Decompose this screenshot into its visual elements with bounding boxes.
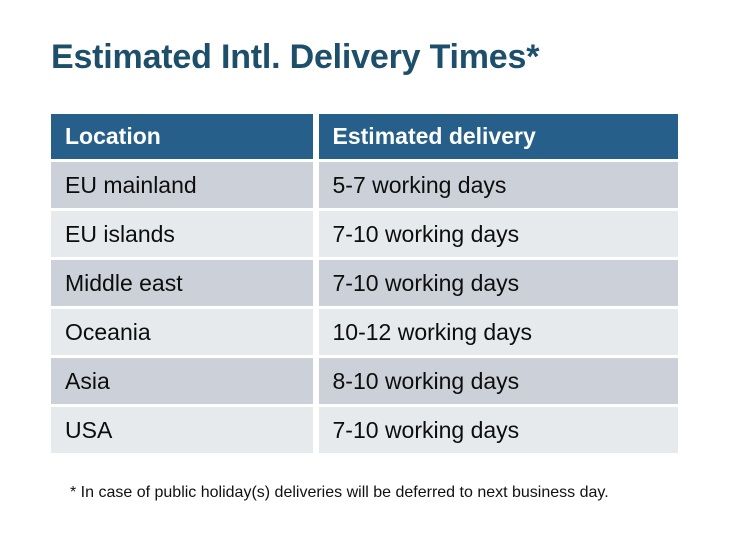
column-header-location: Location — [51, 114, 313, 159]
table-row: Asia 8-10 working days — [51, 358, 678, 404]
table-row: Middle east 7-10 working days — [51, 260, 678, 306]
table-header-row: Location Estimated delivery — [51, 114, 678, 159]
cell-estimated-delivery: 7-10 working days — [319, 211, 678, 257]
cell-estimated-delivery: 7-10 working days — [319, 407, 678, 453]
cell-location: Asia — [51, 358, 313, 404]
cell-location: USA — [51, 407, 313, 453]
table-header: Location Estimated delivery — [51, 114, 678, 159]
cell-estimated-delivery: 5-7 working days — [319, 162, 678, 208]
cell-estimated-delivery: 10-12 working days — [319, 309, 678, 355]
page-title: Estimated Intl. Delivery Times* — [51, 36, 539, 78]
table-row: USA 7-10 working days — [51, 407, 678, 453]
table-body: EU mainland 5-7 working days EU islands … — [51, 162, 678, 453]
cell-location: EU islands — [51, 211, 313, 257]
cell-location: EU mainland — [51, 162, 313, 208]
cell-location: Oceania — [51, 309, 313, 355]
table-row: EU islands 7-10 working days — [51, 211, 678, 257]
delivery-times-page: Estimated Intl. Delivery Times* Location… — [0, 0, 745, 536]
table-row: Oceania 10-12 working days — [51, 309, 678, 355]
column-header-estimated-delivery: Estimated delivery — [319, 114, 678, 159]
table-row: EU mainland 5-7 working days — [51, 162, 678, 208]
cell-location: Middle east — [51, 260, 313, 306]
cell-estimated-delivery: 7-10 working days — [319, 260, 678, 306]
footnote-text: * In case of public holiday(s) deliverie… — [70, 482, 609, 504]
cell-estimated-delivery: 8-10 working days — [319, 358, 678, 404]
estimated-delivery-table: Location Estimated delivery EU mainland … — [45, 111, 684, 456]
